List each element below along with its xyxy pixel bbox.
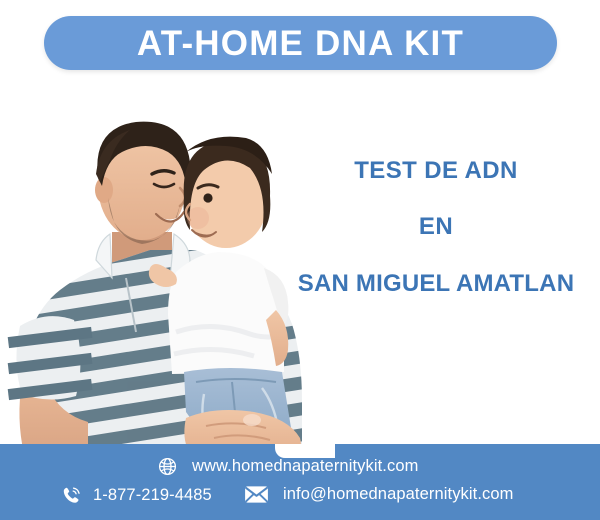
footer-phone-text: 1-877-219-4485 — [93, 486, 212, 505]
footer-website-row[interactable]: www.homednapaternitykit.com — [157, 456, 418, 477]
father-and-child-photo — [0, 82, 330, 460]
poster-canvas: AT-HOME DNA KIT — [0, 0, 600, 520]
globe-icon — [157, 456, 178, 477]
footer-phone-row[interactable]: 1-877-219-4485 — [61, 485, 212, 506]
footer-email-row[interactable]: info@homednapaternitykit.com — [244, 485, 514, 504]
headline-line-location: SAN MIGUEL AMATLAN — [288, 271, 584, 297]
phone-icon — [61, 485, 82, 506]
footer-website-text: www.homednapaternitykit.com — [192, 457, 418, 476]
headline-line-connector: EN — [288, 214, 584, 240]
headline-line-service: TEST DE ADN — [288, 158, 584, 184]
title-banner: AT-HOME DNA KIT — [44, 16, 557, 70]
footer-email-text: info@homednapaternitykit.com — [283, 485, 514, 504]
envelope-icon — [244, 485, 269, 504]
headline-block: TEST DE ADN EN SAN MIGUEL AMATLAN — [288, 158, 584, 297]
title-banner-text: AT-HOME DNA KIT — [137, 26, 464, 61]
